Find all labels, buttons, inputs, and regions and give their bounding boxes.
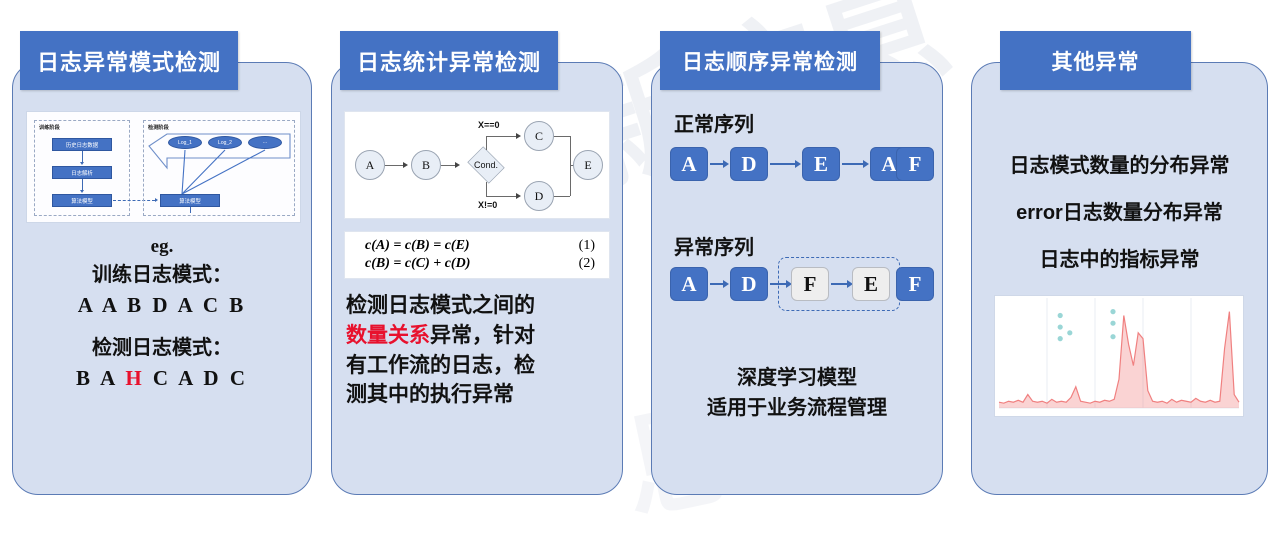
arrow-head: [516, 193, 521, 199]
chart-anomaly-markers: [1058, 309, 1116, 341]
detection-phase-label: 检测阶段: [148, 124, 169, 131]
card-title-4[interactable]: 其他异常: [1000, 31, 1191, 90]
body-line-2: 适用于业务流程管理: [652, 393, 942, 423]
flow-node-e: E: [573, 150, 603, 180]
panel2-body-text: 检测日志模式之间的 数量关系异常，针对 有工作流的日志，检 测其中的执行异常: [346, 291, 612, 410]
decision-label: Cond.: [463, 148, 509, 182]
branch-label-true: X==0: [478, 120, 500, 130]
flow-node-c: C: [524, 121, 554, 151]
connector: [385, 165, 405, 166]
node-history-log-data: 历史日志数据: [52, 138, 112, 151]
body-line-3: 有工作流的日志，检: [346, 351, 612, 381]
connector: [486, 196, 518, 197]
equation-expression: c(B) = c(C) + c(D): [365, 256, 579, 272]
seq-arrow: [842, 163, 864, 165]
detect-seq-highlight: H: [125, 366, 144, 390]
anomaly-sequence-label: 异常序列: [674, 231, 754, 260]
card-other-anomalies[interactable]: 日志模式数量的分布异常 error日志数量分布异常 日志中的指标异常: [971, 62, 1268, 495]
body-line-2: 数量关系异常，针对: [346, 321, 612, 351]
anomaly-seq-box-1: D: [730, 267, 768, 301]
panel1-body-text: eg. 训练日志模式： A A B D A C B 检测日志模式： B A H …: [13, 233, 311, 393]
node-log-parse: 日志解析: [52, 166, 112, 179]
connector: [554, 136, 570, 137]
anomaly-seq-box-0: A: [670, 267, 708, 301]
slide-canvas: 新信息 息 息 信 训练阶段 历史日志数据 日志解析 算法模型 检测阶段 Log…: [0, 0, 1280, 517]
other-anomaly-item-2: 日志中的指标异常: [972, 243, 1267, 272]
seq-arrow: [770, 163, 796, 165]
normal-sequence-label: 正常序列: [674, 108, 754, 137]
normal-seq-box-1: D: [730, 147, 768, 181]
body-highlight: 数量关系: [346, 324, 430, 347]
panel2-flowchart: A B Cond. X==0 C X!=0 D: [344, 111, 610, 219]
connector: [570, 136, 571, 196]
body-line-1: 检测日志模式之间的: [346, 291, 612, 321]
flow-node-a: A: [355, 150, 385, 180]
body-line-2-rest: 异常，针对: [430, 324, 535, 347]
normal-seq-box-4: F: [896, 147, 934, 181]
panel3-body-text: 深度学习模型 适用于业务流程管理: [652, 363, 942, 423]
equation-number: (2): [579, 256, 595, 272]
card-log-anomaly-pattern-detection[interactable]: 训练阶段 历史日志数据 日志解析 算法模型 检测阶段 Log_1 Log_2 ·…: [12, 62, 312, 495]
card-log-statistical-anomaly-detection[interactable]: A B Cond. X==0 C X!=0 D: [331, 62, 623, 495]
equation-row: c(A) = c(B) = c(E) (1): [345, 237, 609, 255]
eg-label: eg.: [13, 233, 311, 261]
metric-anomaly-chart: [994, 295, 1244, 417]
node-algorithm-model-detect: 算法模型: [160, 194, 220, 207]
normal-seq-box-2: E: [802, 147, 840, 181]
anomaly-seq-box-4: F: [896, 267, 934, 301]
panel1-diagram: 训练阶段 历史日志数据 日志解析 算法模型 检测阶段 Log_1 Log_2 ·…: [26, 111, 301, 223]
seq-arrow: [710, 163, 724, 165]
training-phase-label: 训练阶段: [39, 124, 60, 131]
detect-seq-prefix: B A: [76, 366, 125, 390]
body-line-1: 深度学习模型: [652, 363, 942, 393]
arrow-head: [80, 162, 84, 165]
anomaly-seq-box-3: E: [852, 267, 890, 301]
flow-decision-cond: Cond.: [463, 148, 509, 182]
card-title-3[interactable]: 日志顺序异常检测: [660, 31, 880, 90]
other-anomaly-item-1: error日志数量分布异常: [972, 196, 1267, 225]
other-anomaly-item-0: 日志模式数量的分布异常: [972, 149, 1267, 178]
detect-pattern-label: 检测日志模式：: [13, 334, 311, 363]
arrow-head: [80, 190, 84, 193]
flow-node-b: B: [411, 150, 441, 180]
connector: [554, 196, 570, 197]
seq-arrow: [770, 283, 787, 285]
flow-node-d: D: [524, 181, 554, 211]
seq-arrow: [710, 283, 724, 285]
connector: [190, 207, 191, 213]
detect-pattern-sequence: B A H C A D C: [13, 363, 311, 393]
branch-label-false: X!=0: [478, 200, 497, 210]
connector: [486, 136, 487, 150]
arrow-head: [516, 133, 521, 139]
equation-number: (1): [579, 238, 595, 254]
detect-seq-suffix: C A D C: [145, 366, 248, 390]
normal-seq-box-0: A: [670, 147, 708, 181]
train-pattern-label: 训练日志模式：: [13, 261, 311, 290]
connector: [486, 136, 518, 137]
chart-area-fill: [999, 312, 1239, 408]
body-line-4: 测其中的执行异常: [346, 380, 612, 410]
connector: [486, 182, 487, 196]
anomaly-seq-box-2: F: [791, 267, 829, 301]
card-title-1[interactable]: 日志异常模式检测: [20, 31, 238, 90]
equation-row: c(B) = c(C) + c(D) (2): [345, 255, 609, 273]
chart-svg: [995, 296, 1243, 416]
panel2-equations: c(A) = c(B) = c(E) (1) c(B) = c(C) + c(D…: [344, 231, 610, 279]
arrow-head: [403, 162, 408, 168]
card-title-2[interactable]: 日志统计异常检测: [340, 31, 558, 90]
arrow-head: [455, 162, 460, 168]
node-algorithm-model-train: 算法模型: [52, 194, 112, 207]
seq-arrow: [831, 283, 848, 285]
log-to-model-links: [157, 146, 293, 198]
card-log-sequence-anomaly-detection[interactable]: 正常序列 A D E A F 异常序列 A D F E F 深度学习模型 适用于…: [651, 62, 943, 495]
equation-expression: c(A) = c(B) = c(E): [365, 238, 579, 254]
train-pattern-sequence: A A B D A C B: [13, 290, 311, 320]
